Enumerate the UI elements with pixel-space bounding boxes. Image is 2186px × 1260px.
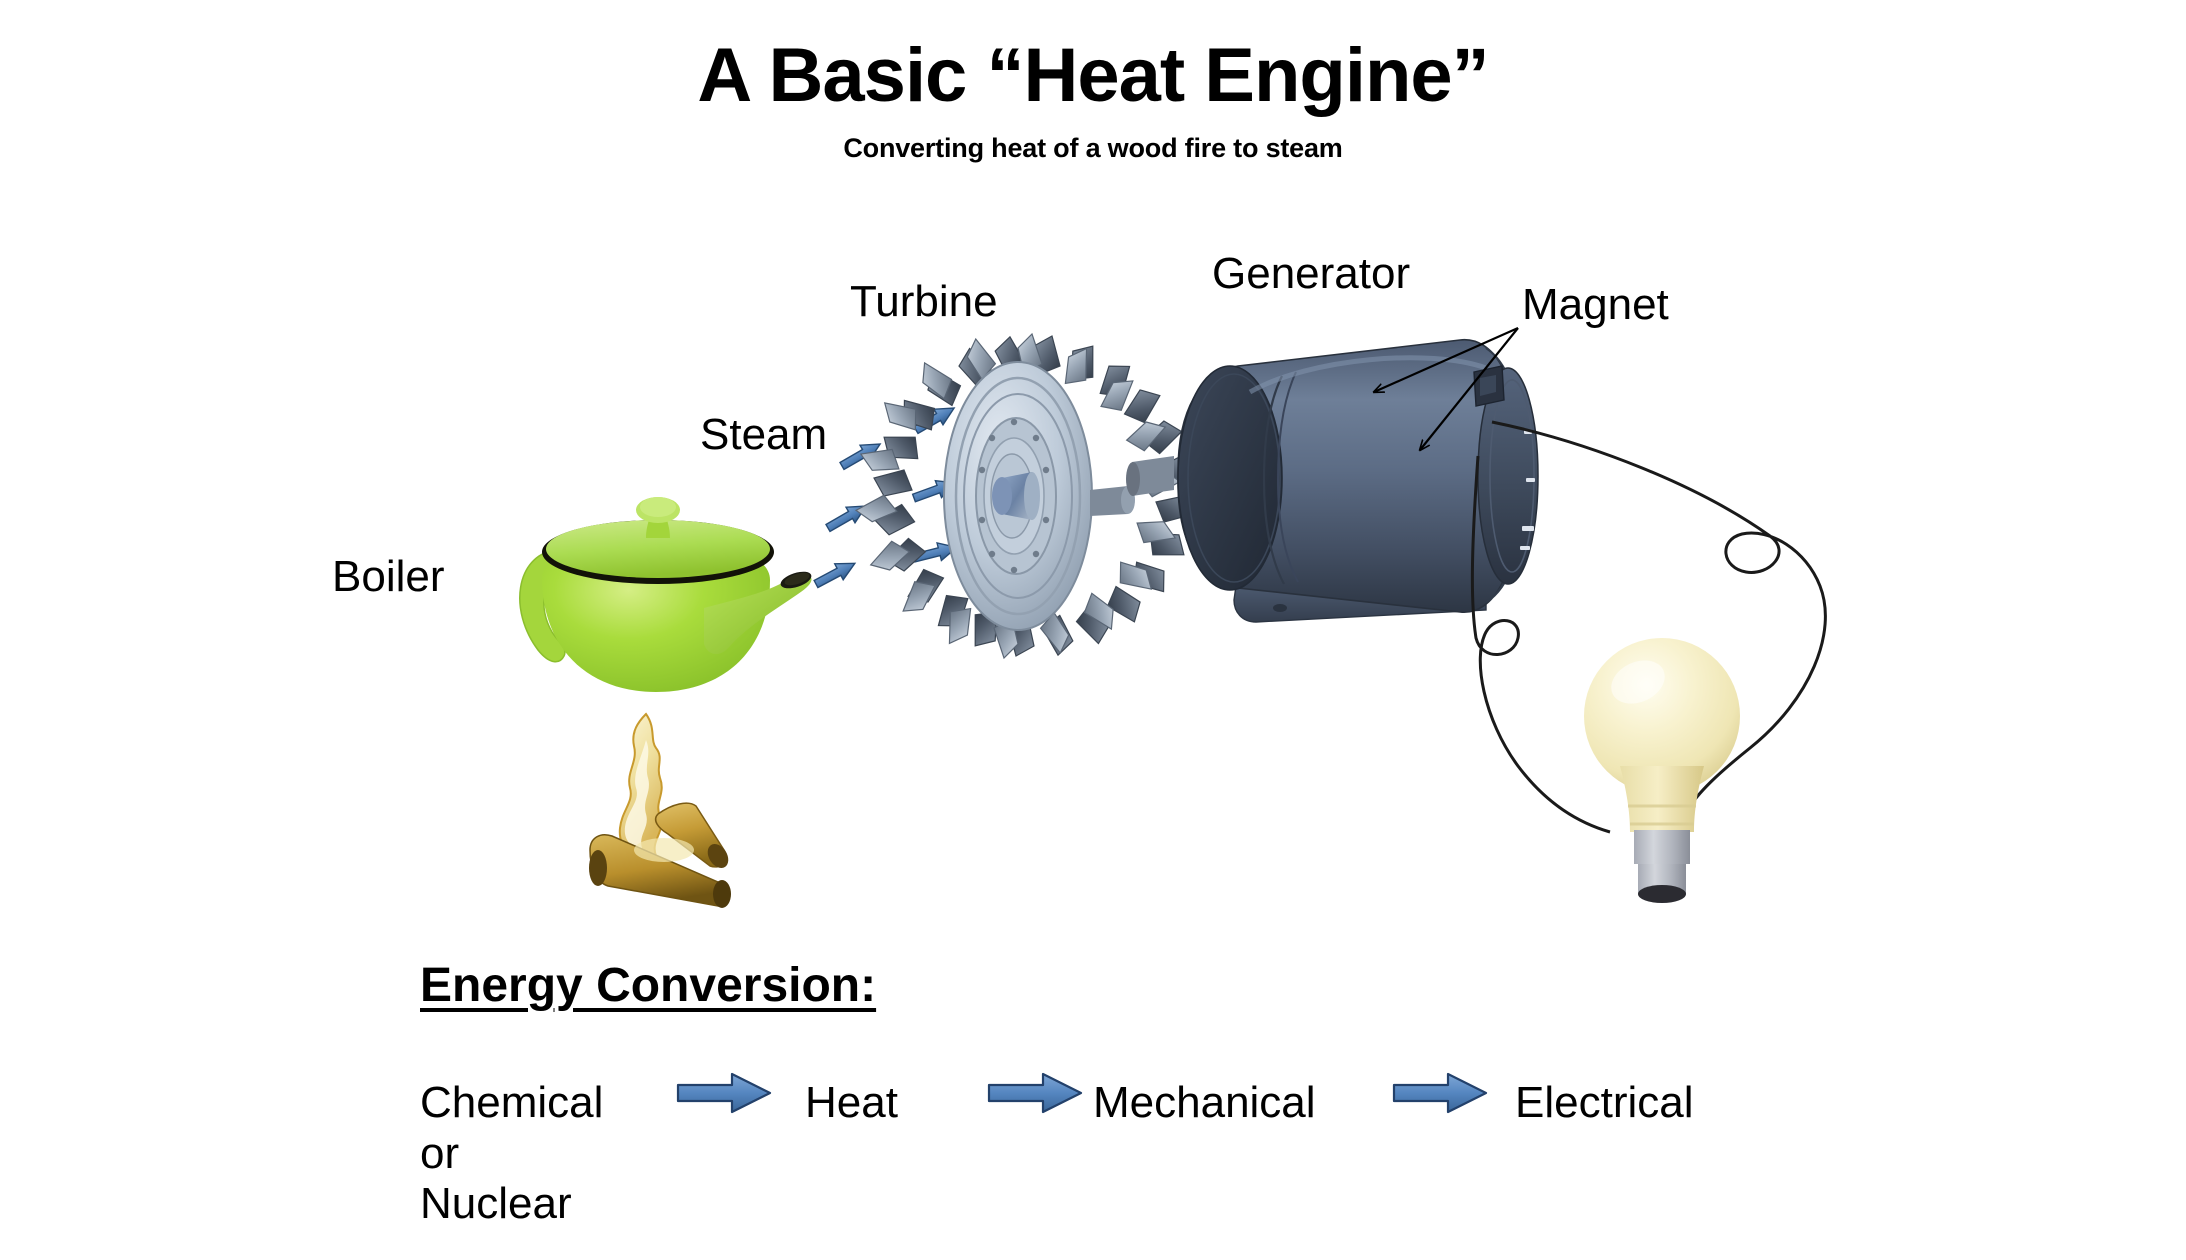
energy-term-mechanical: Mechanical [1093,1078,1316,1129]
label-steam: Steam [700,413,827,457]
page-subtitle: Converting heat of a wood fire to steam [0,133,2186,164]
teapot-boiler-icon [498,460,828,710]
block-arrow-right-icon [985,1070,1085,1116]
energy-term-electrical: Electrical [1515,1078,1694,1129]
page-title: A Basic “Heat Engine” [0,38,2186,114]
energy-conversion-heading: Energy Conversion: [420,958,876,1013]
label-generator: Generator [1212,252,1410,296]
block-arrow-right-icon [674,1070,774,1116]
energy-term-heat: Heat [805,1078,898,1129]
energy-term-chemical-or-nuclear: Chemical or Nuclear [420,1078,603,1230]
wood-fire-icon [572,700,792,932]
block-arrow-right-icon [1390,1070,1490,1116]
light-bulb-icon [1572,620,1752,920]
slide-canvas: A Basic “Heat Engine” Converting heat of… [0,0,2186,1260]
label-boiler: Boiler [332,555,445,599]
